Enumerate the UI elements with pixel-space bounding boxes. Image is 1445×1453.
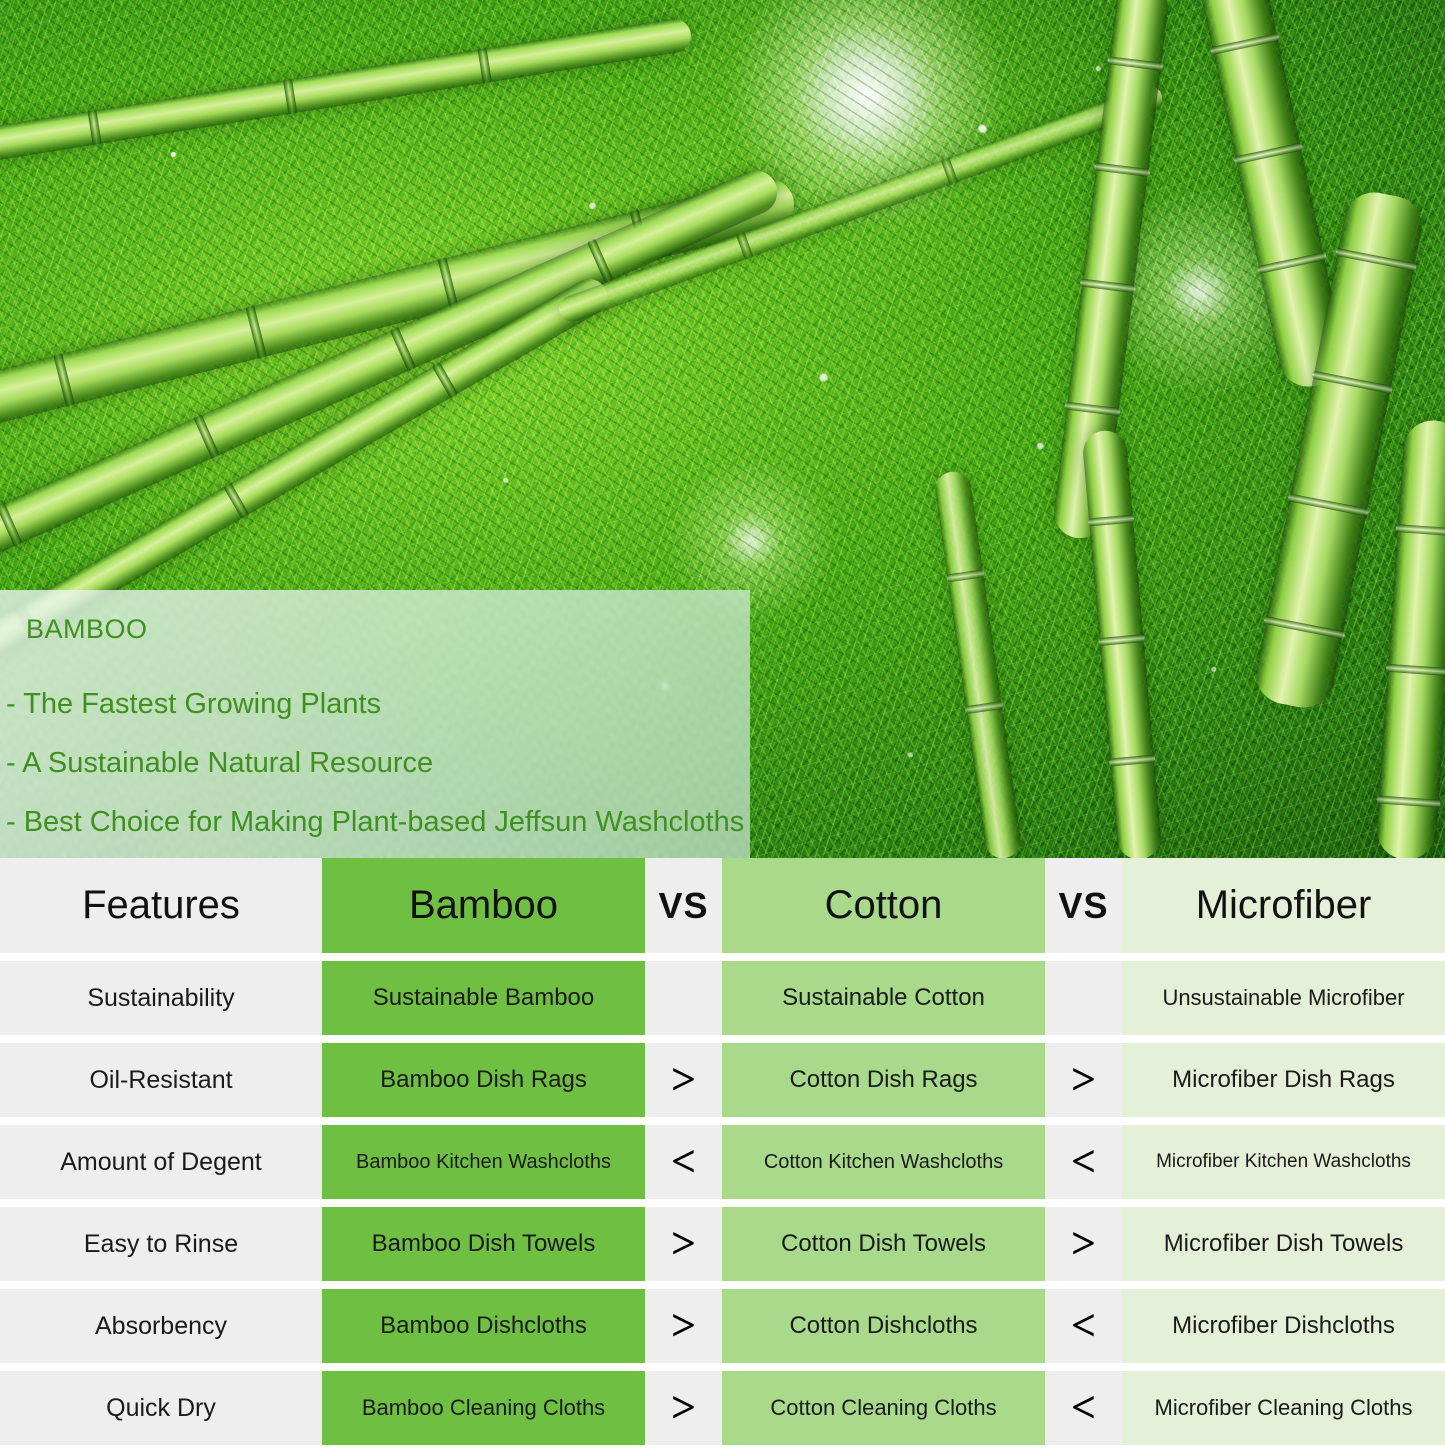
bamboo-info-overlay-panel: BAMBOO - The Fastest Growing Plants - A … — [0, 590, 750, 858]
row-feature-cell: Quick Dry — [0, 1371, 322, 1445]
overlay-bullet-list: - The Fastest Growing Plants - A Sustain… — [6, 690, 746, 858]
overlay-bullet-3: - Best Choice for Making Plant-based Jef… — [6, 808, 746, 837]
table-row: Quick Dry Bamboo Cleaning Cloths > Cotto… — [0, 1371, 1445, 1445]
header-cell-bamboo: Bamboo — [322, 858, 645, 953]
row-microfiber-cell: Microfiber Dish Rags — [1122, 1043, 1445, 1117]
row-bamboo-cell: Sustainable Bamboo — [322, 961, 645, 1035]
overlay-title: BAMBOO — [26, 614, 148, 645]
row-cotton-value: Cotton Kitchen Washcloths — [758, 1151, 1009, 1174]
comparison-symbol-1: > — [671, 1058, 696, 1102]
row-cotton-value: Sustainable Cotton — [776, 984, 991, 1012]
comparison-symbol-2: > — [1071, 1058, 1096, 1102]
row-bamboo-value: Bamboo Cleaning Cloths — [356, 1395, 611, 1421]
row-feature-cell: Absorbency — [0, 1289, 322, 1363]
row-microfiber-cell: Unsustainable Microfiber — [1122, 961, 1445, 1035]
product-comparison-infographic: BAMBOO - The Fastest Growing Plants - A … — [0, 0, 1445, 1445]
row-microfiber-cell: Microfiber Cleaning Cloths — [1122, 1371, 1445, 1445]
row-bamboo-value: Bamboo Kitchen Washcloths — [350, 1151, 617, 1174]
bamboo-forest-hero-image: BAMBOO - The Fastest Growing Plants - A … — [0, 0, 1445, 858]
row-cotton-cell: Cotton Dishcloths — [722, 1289, 1045, 1363]
comparison-symbol-2: < — [1071, 1140, 1096, 1184]
row-cotton-cell: Cotton Dish Rags — [722, 1043, 1045, 1117]
row-symbol-cell-2: < — [1045, 1371, 1122, 1445]
row-microfiber-value: Microfiber Dish Towels — [1158, 1230, 1410, 1258]
vs-label-2: VS — [1058, 885, 1108, 927]
header-label-microfiber: Microfiber — [1196, 883, 1372, 928]
row-cotton-value: Cotton Cleaning Cloths — [764, 1395, 1002, 1421]
row-microfiber-value: Unsustainable Microfiber — [1156, 985, 1410, 1011]
row-cotton-value: Cotton Dish Rags — [783, 1066, 983, 1094]
row-symbol-cell-2: > — [1045, 1043, 1122, 1117]
comparison-symbol-2: > — [1071, 1222, 1096, 1266]
row-bamboo-value: Sustainable Bamboo — [367, 984, 600, 1012]
row-symbol-cell-2: > — [1045, 1207, 1122, 1281]
table-row: Easy to Rinse Bamboo Dish Towels > Cotto… — [0, 1207, 1445, 1281]
row-feature-label: Absorbency — [95, 1312, 227, 1341]
table-header-row: Features Bamboo VS Cotton VS Microfiber — [0, 858, 1445, 953]
row-feature-label: Easy to Rinse — [84, 1230, 238, 1259]
row-symbol-cell-2: < — [1045, 1289, 1122, 1363]
row-symbol-cell-1: > — [645, 1371, 722, 1445]
vs-label-1: VS — [658, 885, 708, 927]
row-feature-label: Quick Dry — [106, 1394, 216, 1423]
row-bamboo-value: Bamboo Dish Towels — [366, 1230, 602, 1258]
comparison-symbol-2: < — [1071, 1304, 1096, 1348]
row-feature-label: Amount of Degent — [60, 1148, 262, 1177]
header-cell-features: Features — [0, 858, 322, 953]
row-microfiber-value: Microfiber Cleaning Cloths — [1149, 1395, 1419, 1421]
row-symbol-cell-1: > — [645, 1289, 722, 1363]
row-cotton-cell: Cotton Dish Towels — [722, 1207, 1045, 1281]
header-cell-vs-2: VS — [1045, 858, 1122, 953]
header-label-bamboo: Bamboo — [409, 883, 558, 928]
comparison-symbol-2: < — [1071, 1386, 1096, 1430]
row-bamboo-cell: Bamboo Cleaning Cloths — [322, 1371, 645, 1445]
row-bamboo-value: Bamboo Dishcloths — [374, 1312, 593, 1340]
row-symbol-cell-2: < — [1045, 1125, 1122, 1199]
table-row: Amount of Degent Bamboo Kitchen Washclot… — [0, 1125, 1445, 1199]
table-row: Sustainability Sustainable Bamboo Sustai… — [0, 961, 1445, 1035]
table-row: Oil-Resistant Bamboo Dish Rags > Cotton … — [0, 1043, 1445, 1117]
header-cell-vs-1: VS — [645, 858, 722, 953]
row-symbol-cell-1: < — [645, 1125, 722, 1199]
row-symbol-cell-2 — [1045, 961, 1122, 1035]
row-bamboo-cell: Bamboo Dishcloths — [322, 1289, 645, 1363]
row-cotton-cell: Sustainable Cotton — [722, 961, 1045, 1035]
row-feature-cell: Sustainability — [0, 961, 322, 1035]
table-row: Absorbency Bamboo Dishcloths > Cotton Di… — [0, 1289, 1445, 1363]
comparison-symbol-1: < — [671, 1140, 696, 1184]
row-cotton-value: Cotton Dish Towels — [775, 1230, 992, 1258]
overlay-bullet-2: - A Sustainable Natural Resource — [6, 749, 746, 778]
row-cotton-cell: Cotton Cleaning Cloths — [722, 1371, 1045, 1445]
row-cotton-value: Cotton Dishcloths — [783, 1312, 983, 1340]
row-bamboo-cell: Bamboo Dish Towels — [322, 1207, 645, 1281]
row-microfiber-value: Microfiber Dish Rags — [1166, 1066, 1401, 1094]
row-bamboo-value: Bamboo Dish Rags — [374, 1066, 593, 1094]
row-microfiber-value: Microfiber Dishcloths — [1166, 1312, 1401, 1340]
overlay-bullet-1: - The Fastest Growing Plants — [6, 690, 746, 719]
row-symbol-cell-1: > — [645, 1043, 722, 1117]
row-bamboo-cell: Bamboo Kitchen Washcloths — [322, 1125, 645, 1199]
row-cotton-cell: Cotton Kitchen Washcloths — [722, 1125, 1045, 1199]
row-feature-cell: Amount of Degent — [0, 1125, 322, 1199]
row-microfiber-cell: Microfiber Dishcloths — [1122, 1289, 1445, 1363]
comparison-symbol-1: > — [671, 1304, 696, 1348]
row-symbol-cell-1 — [645, 961, 722, 1035]
header-cell-cotton: Cotton — [722, 858, 1045, 953]
row-microfiber-cell: Microfiber Dish Towels — [1122, 1207, 1445, 1281]
row-feature-cell: Easy to Rinse — [0, 1207, 322, 1281]
header-cell-microfiber: Microfiber — [1122, 858, 1445, 953]
row-bamboo-cell: Bamboo Dish Rags — [322, 1043, 645, 1117]
row-microfiber-cell: Microfiber Kitchen Washcloths — [1122, 1125, 1445, 1199]
row-feature-label: Oil-Resistant — [89, 1066, 232, 1095]
header-label-features: Features — [82, 883, 240, 928]
row-feature-cell: Oil-Resistant — [0, 1043, 322, 1117]
row-microfiber-value: Microfiber Kitchen Washcloths — [1150, 1151, 1417, 1173]
comparison-symbol-1: > — [671, 1222, 696, 1266]
row-symbol-cell-1: > — [645, 1207, 722, 1281]
comparison-table: Features Bamboo VS Cotton VS Microfiber … — [0, 858, 1445, 1453]
comparison-symbol-1: > — [671, 1386, 696, 1430]
header-label-cotton: Cotton — [825, 883, 943, 928]
row-feature-label: Sustainability — [87, 984, 234, 1013]
